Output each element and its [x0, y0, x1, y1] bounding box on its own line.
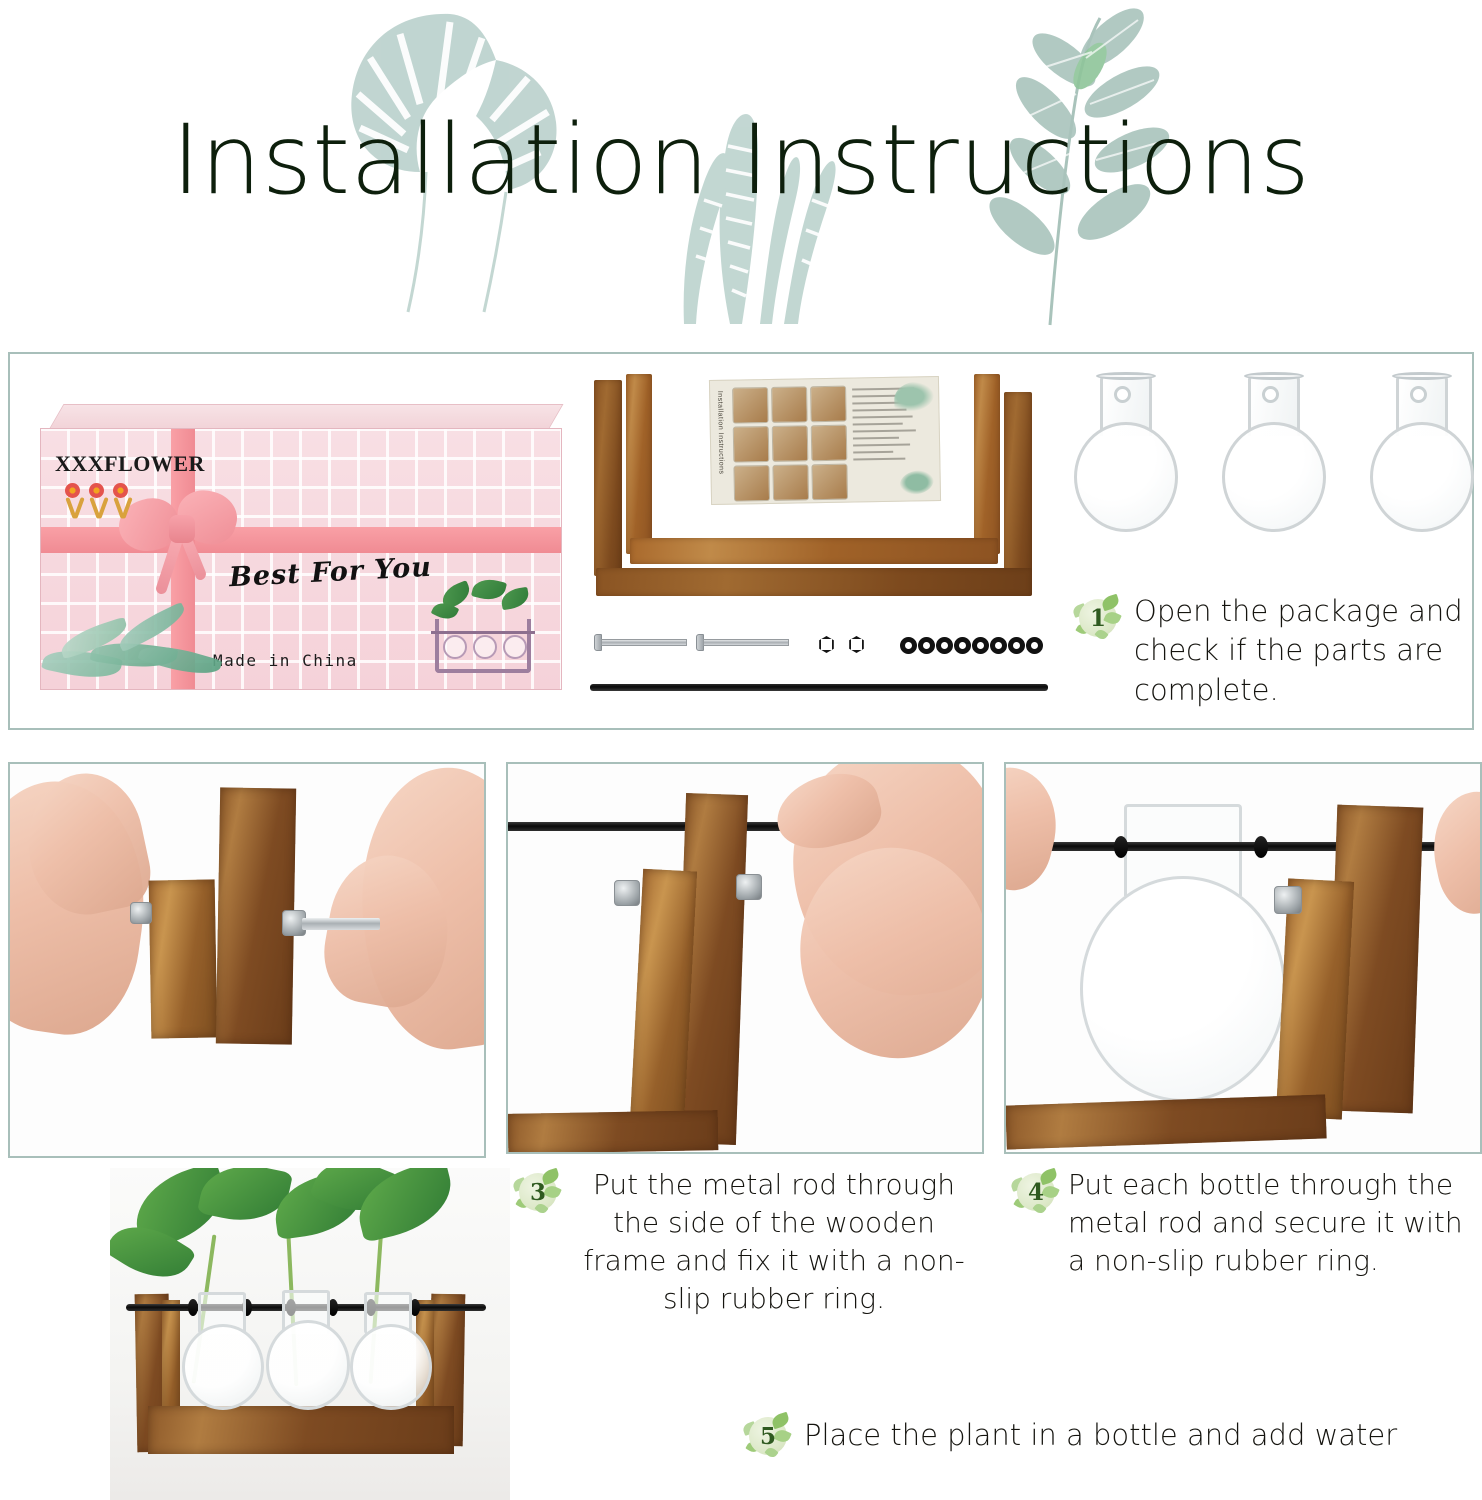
step-badge-5: 5 [742, 1410, 794, 1462]
box-watercolor-leaves-icon [43, 609, 223, 690]
box-front-face: XXXFLOWER Best For You Made in China [40, 428, 562, 690]
hardware-parts-row [590, 626, 1060, 666]
page-title: Installation Instructions [0, 112, 1482, 208]
glass-bottle-bulb [266, 1320, 350, 1410]
screw-head-right [736, 874, 762, 900]
step-number: 1 [1072, 592, 1124, 644]
instruction-card-title: Installation Instructions [716, 391, 724, 475]
left-hand [1006, 764, 1069, 898]
glass-bottle-bulb [350, 1324, 432, 1410]
step-3-caption: 3 Put the metal rod through the side of … [512, 1166, 982, 1318]
wood-piece-horizontal [149, 879, 218, 1038]
rubber-ring-icon [1008, 637, 1025, 654]
glass-bottle-bulb [1080, 876, 1286, 1102]
infographic-page: Installation Instructions XXXFLOWER [0, 0, 1482, 1500]
step-1-caption: 1 Open the package and check if the part… [1072, 592, 1464, 710]
header-banner: Installation Instructions [0, 0, 1482, 338]
step-2-photo-panel: 2 Connect the wooden frame, insert the s… [8, 762, 486, 1158]
step-3-photo-panel [506, 762, 984, 1154]
box-brand-label: XXXFLOWER [55, 451, 205, 477]
instruction-card-leaf-icon-2 [900, 470, 934, 495]
step-1-text: Open the package and check if the parts … [1134, 592, 1464, 710]
step-5-text: Place the plant in a bottle and add wate… [804, 1416, 1397, 1455]
rubber-ring [188, 1299, 198, 1316]
step-4-photo-panel [1004, 762, 1482, 1154]
rubber-ring-icon [954, 637, 971, 654]
metal-rod-icon [590, 684, 1048, 691]
step-3-photo [508, 764, 982, 1152]
step-badge-1: 1 [1072, 592, 1124, 644]
rubber-ring [1254, 836, 1268, 858]
hex-nut-icon [848, 636, 865, 653]
glass-bottles-photo [1072, 374, 1482, 554]
rubber-ring-icon [990, 637, 1007, 654]
screw-head-left [614, 880, 640, 906]
step-3-text: Put the metal rod through the side of th… [570, 1166, 978, 1318]
wood-base-shelf [148, 1406, 454, 1454]
instruction-card: Installation Instructions [709, 376, 941, 505]
wooden-frame-parts-photo: Installation Instructions [590, 370, 1060, 620]
screw-head [1274, 886, 1302, 914]
step-badge-4: 4 [1010, 1166, 1062, 1218]
screw-nut [130, 902, 152, 924]
step-number: 3 [512, 1166, 564, 1218]
step-badge-3: 3 [512, 1166, 564, 1218]
step-2-photo [10, 764, 484, 1156]
screw-icon [696, 634, 792, 651]
wood-upright-light [1276, 878, 1354, 1119]
right-hand [1423, 784, 1480, 920]
box-top-face [48, 404, 563, 430]
step-number: 5 [742, 1410, 794, 1462]
rubber-ring-icon [1026, 637, 1043, 654]
step-4-caption: 4 Put each bottle through the metal rod … [1010, 1166, 1480, 1280]
glass-bottle-bulb [182, 1324, 264, 1410]
rubber-ring [1114, 836, 1128, 858]
step-number: 4 [1010, 1166, 1062, 1218]
step-5-photo [110, 1168, 510, 1500]
hex-nut-icon [818, 636, 835, 653]
rubber-ring-icon [972, 637, 989, 654]
rubber-ring-icon [936, 637, 953, 654]
glass-bottle [1368, 374, 1476, 544]
flower-embroidery-icon [63, 483, 153, 523]
box-origin-label: Made in China [213, 651, 358, 670]
package-box-photo: XXXFLOWER Best For You Made in China [38, 404, 568, 694]
glass-bottle [1220, 374, 1328, 544]
glass-bottle [1072, 374, 1180, 544]
rubber-ring-icon [918, 637, 935, 654]
box-product-illustration [427, 579, 545, 675]
screw-shaft [302, 918, 380, 930]
wood-base-rail [508, 1110, 718, 1152]
step-4-photo [1006, 764, 1480, 1152]
wood-base-rail [1006, 1094, 1327, 1149]
box-slogan: Best For You [228, 552, 432, 594]
rubber-ring-icon [900, 637, 917, 654]
instruction-card-photo-grid [732, 386, 848, 502]
instruction-card-leaf-icon [894, 381, 935, 412]
screw-icon [594, 634, 690, 651]
step-4-text: Put each bottle through the metal rod an… [1068, 1166, 1476, 1280]
step-5-caption: 5 Place the plant in a bottle and add wa… [742, 1410, 1397, 1462]
